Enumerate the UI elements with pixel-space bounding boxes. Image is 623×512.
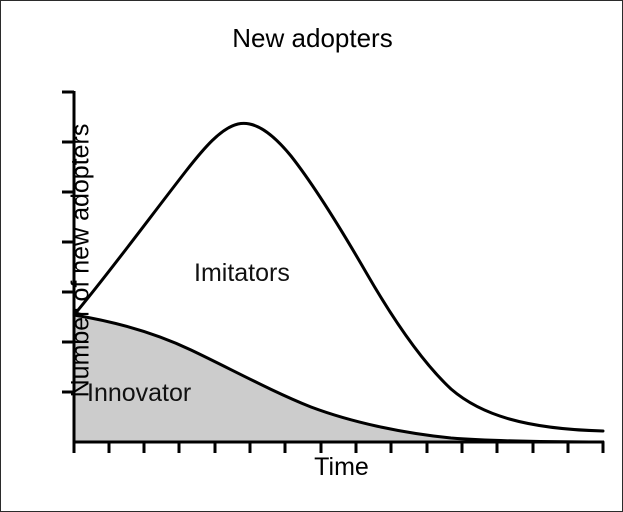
innovator-series-label: Innovator: [87, 379, 191, 408]
imitators-series-label: Imitators: [194, 259, 290, 288]
chart-title: New adopters: [1, 23, 623, 54]
x-axis-label: Time: [1, 453, 623, 482]
chart-figure: New adopters Number of new adopters Time…: [0, 0, 623, 512]
x-axis-ticks: [74, 442, 603, 453]
